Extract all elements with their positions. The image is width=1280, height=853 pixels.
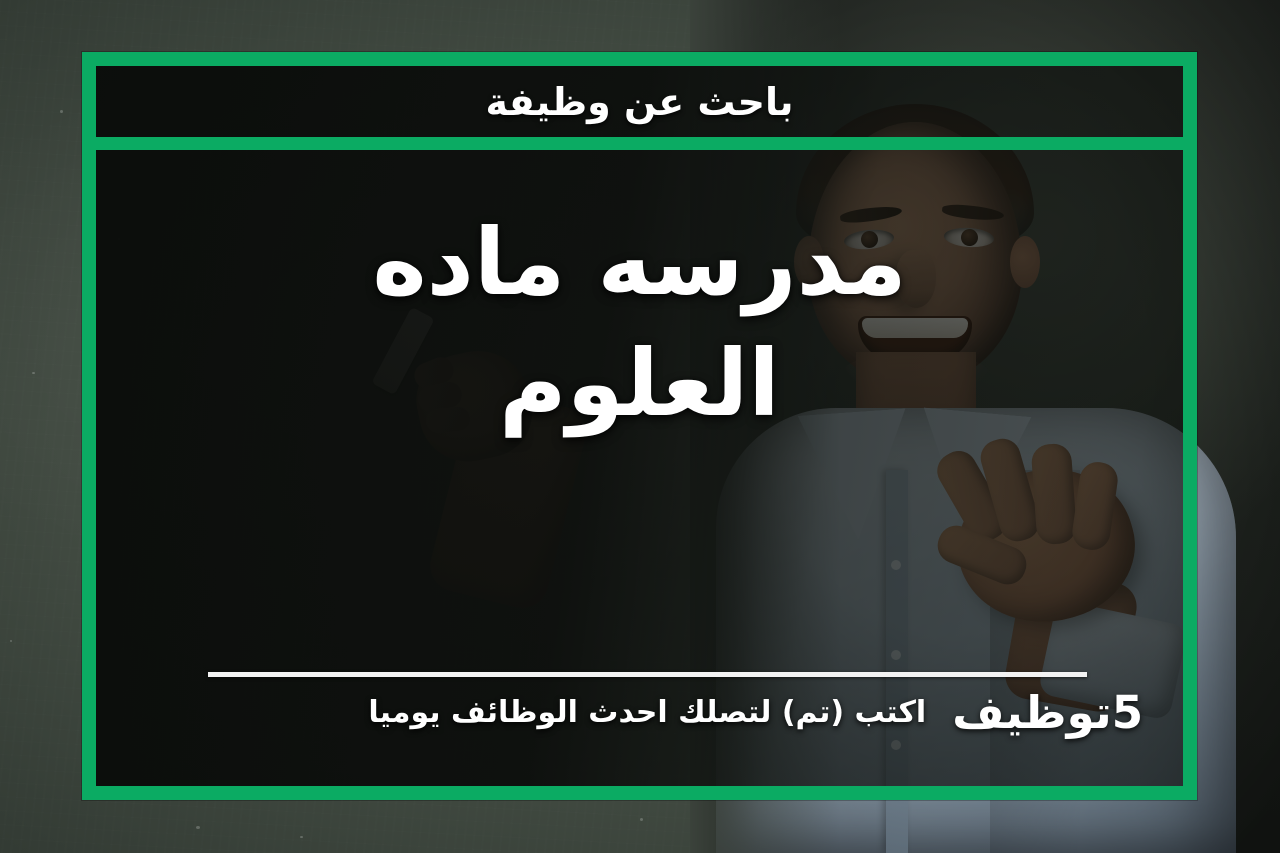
green-border-frame: باحث عن وظيفة مدرسه ماده العلوم 5توظيف ا… bbox=[82, 52, 1197, 800]
card-footer: 5توظيف اكتب (تم) لتصلك احدث الوظائف يومي… bbox=[96, 640, 1183, 768]
subscribe-tagline: اكتب (تم) لتصلك احدث الوظائف يوميا bbox=[368, 698, 926, 728]
header-label: باحث عن وظيفة bbox=[485, 83, 793, 121]
header-divider bbox=[96, 137, 1183, 150]
brand-name: 5توظيف bbox=[952, 690, 1143, 735]
job-title-line-2: العلوم bbox=[499, 323, 780, 444]
job-post-card: باحث عن وظيفة مدرسه ماده العلوم 5توظيف ا… bbox=[0, 0, 1280, 853]
job-title-line-1: مدرسه ماده bbox=[372, 202, 906, 323]
footer-row: 5توظيف اكتب (تم) لتصلك احدث الوظائف يومي… bbox=[142, 690, 1143, 735]
card-header: باحث عن وظيفة bbox=[96, 66, 1183, 137]
job-title-block: مدرسه ماده العلوم bbox=[96, 150, 1183, 636]
footer-rule bbox=[208, 672, 1087, 677]
